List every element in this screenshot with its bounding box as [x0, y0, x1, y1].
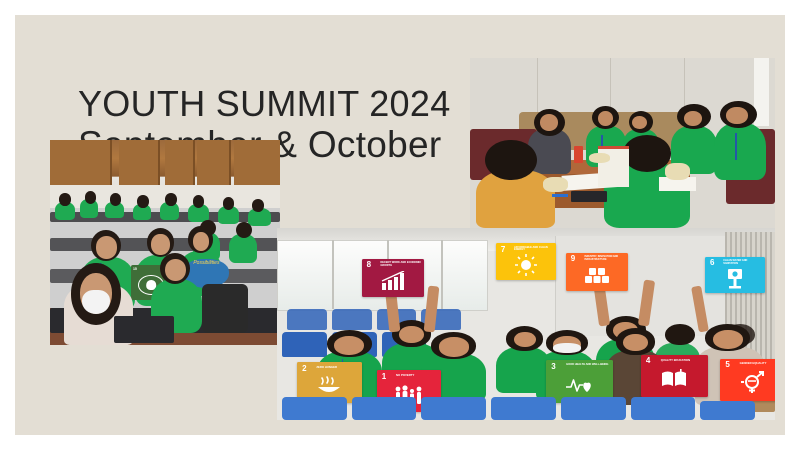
wood-panel — [119, 140, 160, 185]
sdg-card-caption: NO POVERTY — [396, 374, 439, 377]
sdg-card-caption: CLEAN WATER AND SANITATION — [723, 260, 762, 266]
seat — [332, 309, 372, 330]
student-face — [514, 332, 536, 347]
sdg-card-number: 1 — [382, 373, 386, 381]
sdg-card-7: 7 AFFORDABLE AND CLEAN ENERGY — [496, 243, 556, 279]
sdg-card-caption: DECENT WORK AND ECONOMIC GROWTH — [380, 262, 421, 268]
sdg-card-number: 4 — [646, 357, 650, 365]
student-face — [96, 236, 117, 259]
face-mask — [553, 343, 580, 353]
sdg-card-caption: ZERO HUNGER — [316, 366, 359, 369]
adult-face — [713, 330, 743, 349]
attendee-head — [110, 193, 122, 205]
gender-equality-icon — [740, 371, 766, 395]
sun-icon — [514, 253, 538, 277]
window-mullion — [332, 240, 334, 309]
seat — [421, 397, 486, 420]
open-book-icon — [660, 369, 688, 389]
sdg-card-number: 2 — [302, 365, 306, 373]
title-line-1: YOUTH SUMMIT 2024 — [78, 83, 451, 124]
delegate-face — [684, 111, 702, 126]
wood-panel — [50, 140, 112, 185]
notebook — [571, 191, 608, 203]
sdg-card-8: 8 DECENT WORK AND ECONOMIC GROWTH — [362, 259, 424, 297]
participant-head — [623, 135, 672, 172]
water-drop-icon — [725, 266, 745, 290]
steaming-bowl-icon — [316, 376, 342, 396]
attendee-head — [165, 193, 177, 205]
student-face — [399, 326, 424, 343]
seat — [282, 397, 347, 420]
presentation-slide: YOUTH SUMMIT 2024 September & October — [15, 15, 785, 435]
seat — [282, 332, 327, 357]
pen — [552, 194, 567, 197]
drink-cup — [574, 146, 583, 163]
wood-panel — [197, 140, 231, 185]
sdg-card-caption: GOOD HEALTH AND WELL-BEING — [566, 364, 610, 367]
attendee-head — [59, 193, 71, 205]
photo-auditorium-group-selfie: 15 Possibilities — [50, 140, 280, 345]
sdg-card-4: 4 QUALITY EDUCATION — [641, 355, 708, 397]
seat — [352, 397, 417, 420]
seat — [287, 309, 327, 330]
attendee-head — [252, 199, 264, 211]
sdg-card-number: 7 — [501, 246, 505, 254]
seat — [491, 397, 556, 420]
delegate-body — [714, 123, 766, 181]
student-head — [665, 324, 695, 345]
sdg-card-6: 6 CLEAN WATER AND SANITATION — [705, 257, 765, 293]
lunch-box — [589, 153, 610, 163]
sdg-card-number: 8 — [367, 261, 371, 269]
chart-growth-icon — [380, 271, 406, 291]
sdg-card-number: 9 — [571, 255, 575, 263]
student-face — [439, 337, 469, 356]
cubes-icon — [584, 265, 610, 285]
possibilities-sign-label: Possibilities — [193, 260, 219, 266]
sdg-card-number: 5 — [725, 361, 729, 369]
seat — [631, 397, 696, 420]
sdg-card-number: 3 — [551, 363, 555, 371]
attendee-head — [193, 195, 205, 207]
student-face — [193, 232, 209, 250]
photo-sdg-cards-group: 8 DECENT WORK AND ECONOMIC GROWTH 7 AFFO… — [277, 228, 775, 420]
lanyard — [735, 133, 737, 160]
attendee-head — [137, 195, 149, 207]
window-mullion — [441, 240, 443, 309]
photo-meeting-room-discussion — [470, 58, 775, 228]
student-face — [151, 234, 169, 255]
wood-panel — [234, 140, 280, 185]
sdg-card-5: 5 GENDER EQUALITY — [720, 359, 775, 401]
attendee-head — [85, 191, 97, 203]
sdg-card-caption: QUALITY EDUCATION — [661, 359, 705, 362]
student-face — [334, 336, 364, 355]
wood-panel — [165, 140, 195, 185]
heartbeat-icon — [565, 376, 595, 394]
lunch-box — [543, 177, 567, 192]
sdg-card-caption: INDUSTRY, INNOVATION AND INFRASTRUCTURE — [585, 256, 626, 261]
sdg-card-caption: GENDER EQUALITY — [740, 362, 775, 365]
bag — [202, 284, 248, 333]
sdg-card-9: 9 INDUSTRY, INNOVATION AND INFRASTRUCTUR… — [566, 253, 628, 291]
student-face — [623, 334, 648, 351]
seat — [700, 401, 755, 420]
face-mask — [82, 290, 110, 315]
participant-head — [485, 140, 537, 181]
sdg-card-caption: AFFORDABLE AND CLEAN ENERGY — [514, 247, 553, 253]
seat — [114, 316, 174, 343]
sdg-card-number: 6 — [710, 259, 714, 267]
delegate-face — [726, 107, 747, 124]
attendee — [229, 234, 257, 263]
attendee-head — [223, 197, 235, 209]
lunch-box — [665, 163, 689, 180]
sdg-sign-number: 15 — [133, 268, 137, 272]
student-face — [165, 259, 186, 282]
seat — [561, 397, 626, 420]
